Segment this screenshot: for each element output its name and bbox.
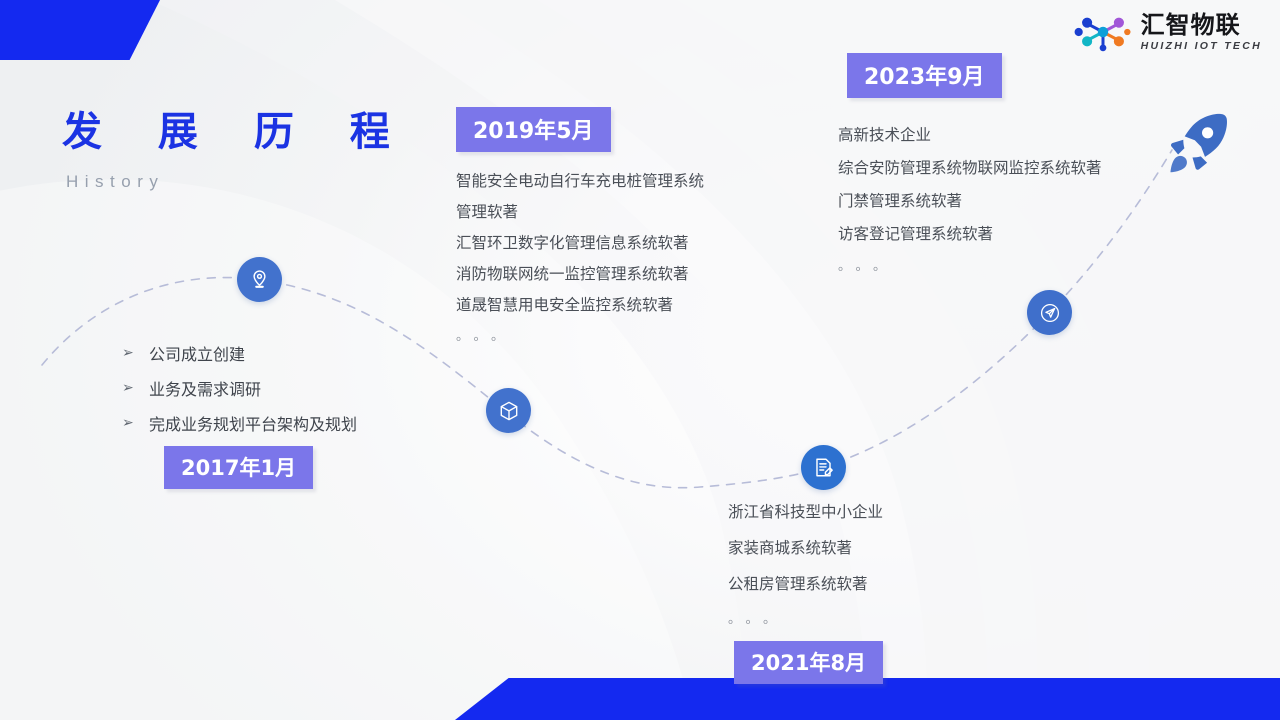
list-item: ➢ 业务及需求调研 bbox=[122, 376, 357, 400]
list-item: 管理软著 bbox=[456, 200, 704, 222]
milestone-2019-lines: 智能安全电动自行车充电桩管理系统 管理软著 汇智环卫数字化管理信息系统软著 消防… bbox=[456, 169, 704, 315]
milestone-2019: 2019年5月 智能安全电动自行车充电桩管理系统 管理软著 汇智环卫数字化管理信… bbox=[456, 107, 704, 344]
bullet-text: 业务及需求调研 bbox=[149, 376, 261, 400]
logo-text-en: HUIZHI IOT TECH bbox=[1141, 41, 1262, 52]
milestone-2023: 2023年9月 高新技术企业 综合安防管理系统物联网监控系统软著 门禁管理系统软… bbox=[838, 53, 1102, 274]
list-item: 高新技术企业 bbox=[838, 123, 1102, 145]
milestone-2019-date-chip: 2019年5月 bbox=[456, 107, 611, 152]
milestone-2021-chip-wrap: 2021年8月 bbox=[734, 641, 883, 684]
page-title: 发 展 历 程 bbox=[62, 99, 411, 157]
bullet-arrow-icon: ➢ bbox=[122, 415, 134, 431]
list-item: 家装商城系统软著 bbox=[728, 536, 883, 558]
timeline-node-2023[interactable] bbox=[1027, 290, 1072, 335]
corner-accent-top-left bbox=[0, 0, 160, 60]
location-pin-icon bbox=[248, 268, 271, 291]
milestone-2019-more-dots: 。。。 bbox=[456, 325, 704, 344]
molecule-logo-icon bbox=[1074, 12, 1132, 52]
milestone-2021-more-dots: 。。。 bbox=[728, 608, 883, 627]
slide-canvas: 汇智物联 HUIZHI IOT TECH 发 展 历 程 History bbox=[0, 0, 1280, 720]
milestone-2021: 浙江省科技型中小企业 家装商城系统软著 公租房管理系统软著 。。。 2021年8… bbox=[728, 500, 883, 684]
send-icon bbox=[1037, 300, 1063, 326]
bullet-text: 公司成立创建 bbox=[149, 341, 245, 365]
list-item: 门禁管理系统软著 bbox=[838, 189, 1102, 211]
list-item: 道晟智慧用电安全监控系统软著 bbox=[456, 293, 704, 315]
document-edit-icon bbox=[812, 456, 835, 479]
page-subtitle: History bbox=[66, 172, 164, 192]
milestone-2017-date-chip: 2017年1月 bbox=[164, 446, 313, 489]
list-item: 综合安防管理系统物联网监控系统软著 bbox=[838, 156, 1102, 178]
list-item: 浙江省科技型中小企业 bbox=[728, 500, 883, 522]
milestone-2023-more-dots: 。。。 bbox=[838, 255, 1102, 274]
milestone-2021-lines: 浙江省科技型中小企业 家装商城系统软著 公租房管理系统软著 bbox=[728, 500, 883, 594]
list-item: 访客登记管理系统软著 bbox=[838, 222, 1102, 244]
list-item: 智能安全电动自行车充电桩管理系统 bbox=[456, 169, 704, 191]
list-item: 汇智环卫数字化管理信息系统软著 bbox=[456, 231, 704, 253]
timeline-node-2019[interactable] bbox=[486, 388, 531, 433]
bullet-arrow-icon: ➢ bbox=[122, 380, 134, 396]
cube-icon bbox=[498, 400, 520, 422]
milestone-2017-chip-wrap: 2017年1月 bbox=[164, 446, 357, 489]
milestone-2023-lines: 高新技术企业 综合安防管理系统物联网监控系统软著 门禁管理系统软著 访客登记管理… bbox=[838, 123, 1102, 244]
milestone-2021-date-chip: 2021年8月 bbox=[734, 641, 883, 684]
list-item: 公租房管理系统软著 bbox=[728, 572, 883, 594]
milestone-2017: ➢ 公司成立创建 ➢ 业务及需求调研 ➢ 完成业务规划平台架构及规划 2017年… bbox=[122, 341, 357, 489]
bullet-arrow-icon: ➢ bbox=[122, 345, 134, 361]
corner-accent-bottom-right bbox=[455, 678, 1280, 720]
timeline-node-2017[interactable] bbox=[237, 257, 282, 302]
brand-logo: 汇智物联 HUIZHI IOT TECH bbox=[1074, 12, 1262, 52]
milestone-2017-bullets: ➢ 公司成立创建 ➢ 业务及需求调研 ➢ 完成业务规划平台架构及规划 bbox=[122, 341, 357, 435]
rocket-icon bbox=[1160, 108, 1232, 186]
logo-text-cn: 汇智物联 bbox=[1141, 13, 1262, 37]
list-item: 消防物联网统一监控管理系统软著 bbox=[456, 262, 704, 284]
milestone-2023-chip-wrap: 2023年9月 bbox=[847, 53, 1102, 98]
bullet-text: 完成业务规划平台架构及规划 bbox=[149, 411, 357, 435]
milestone-2023-date-chip: 2023年9月 bbox=[847, 53, 1002, 98]
list-item: ➢ 完成业务规划平台架构及规划 bbox=[122, 411, 357, 435]
timeline-node-2021[interactable] bbox=[801, 445, 846, 490]
list-item: ➢ 公司成立创建 bbox=[122, 341, 357, 365]
